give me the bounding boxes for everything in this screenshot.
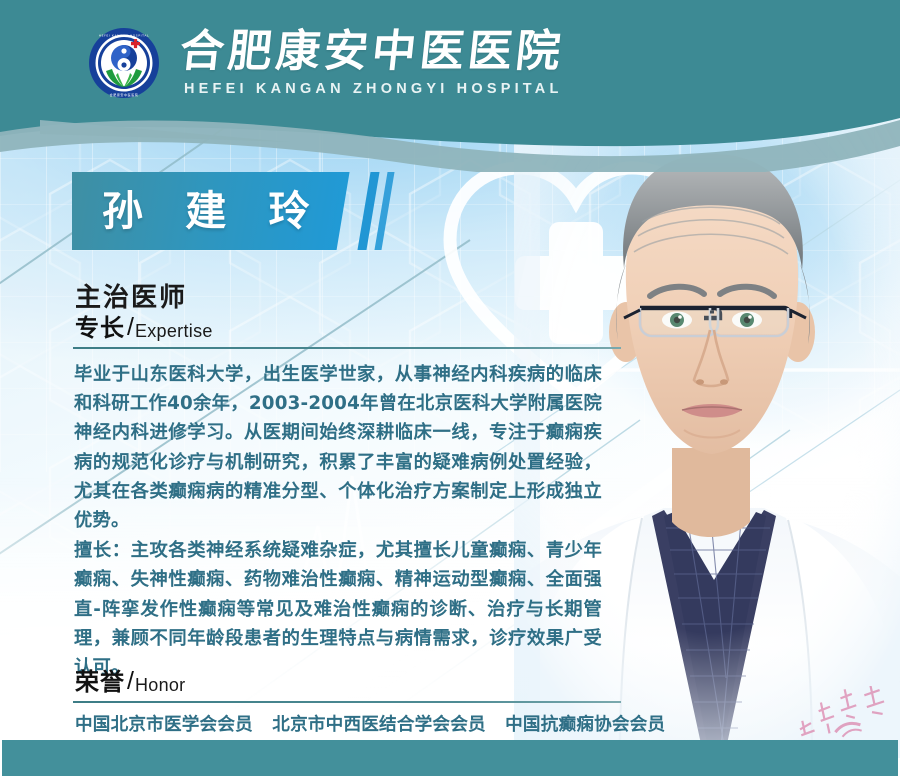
hospital-name-cn: 合肥康安中医医院 [177, 27, 566, 77]
honor-title-en: Honor [135, 676, 186, 694]
honor-item-2: 北京市中西医结合学会会员 [272, 715, 486, 735]
section-heading-expertise: 专长 / Expertise [75, 315, 213, 340]
hospital-emblem-icon: HEFEI KANGAN HOSPITAL 合肥康安中医医院 [88, 27, 160, 99]
honor-slash: / [127, 669, 134, 694]
poster-header: HEFEI KANGAN HOSPITAL 合肥康安中医医院 合肥康安中医医院 … [0, 0, 900, 170]
expertise-body: 毕业于山东医科大学，出生医学世家，从事神经内科疾病的临床和科研工作40余年，20… [74, 360, 602, 682]
red-seal-stamp-icon [792, 686, 896, 744]
footer-bar [2, 740, 898, 776]
doctor-role: 主治医师 [75, 277, 187, 314]
doctor-name: 孙 建 玲 [102, 191, 324, 232]
expertise-paragraph-1: 毕业于山东医科大学，出生医学世家，从事神经内科疾病的临床和科研工作40余年，20… [74, 360, 602, 535]
doctor-profile-poster: HEFEI KANGAN HOSPITAL 合肥康安中医医院 合肥康安中医医院 … [0, 0, 900, 776]
expertise-title-cn: 专长 [75, 316, 125, 340]
section-heading-honor: 荣誉 / Honor [75, 669, 185, 694]
hospital-name-en: HEFEI KANGAN ZHONGYI HOSPITAL [180, 79, 564, 99]
expertise-divider [73, 347, 621, 349]
honor-title-cn: 荣誉 [75, 670, 125, 694]
honor-divider [73, 701, 621, 703]
expertise-title-en: Expertise [135, 322, 213, 340]
honor-items: 中国北京市医学会会员 北京市中西医结合学会会员 中国抗癫痫协会会员 [75, 711, 775, 736]
svg-text:HEFEI KANGAN HOSPITAL: HEFEI KANGAN HOSPITAL [99, 34, 150, 38]
hospital-name-block: 合肥康安中医医院 HEFEI KANGAN ZHONGYI HOSPITAL [180, 27, 564, 99]
honor-item-3: 中国抗癫痫协会会员 [505, 715, 665, 735]
honor-item-1: 中国北京市医学会会员 [75, 715, 253, 735]
doctor-name-banner: 孙 建 玲 [72, 172, 350, 250]
expertise-slash: / [127, 315, 134, 340]
expertise-paragraph-2: 擅长：主攻各类神经系统疑难杂症，尤其擅长儿童癫痫、青少年癫痫、失神性癫痫、药物难… [74, 536, 602, 682]
hospital-branding: HEFEI KANGAN HOSPITAL 合肥康安中医医院 合肥康安中医医院 … [88, 27, 564, 99]
svg-text:合肥康安中医医院: 合肥康安中医医院 [110, 92, 139, 97]
